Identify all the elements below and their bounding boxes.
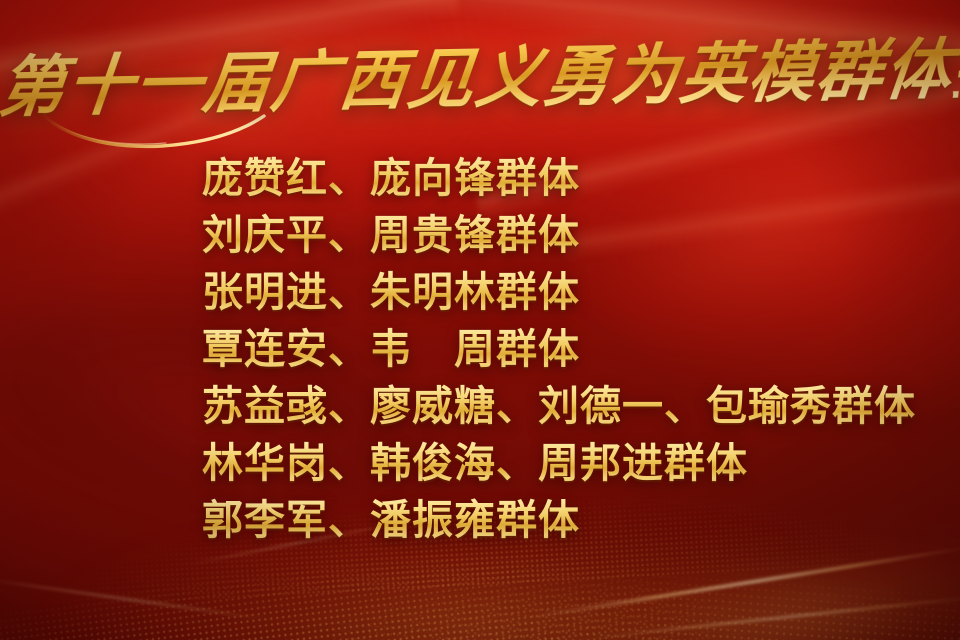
title-zone: 第十一届广西见义勇为英模群体提名奖 bbox=[0, 22, 960, 142]
light-streak-left bbox=[0, 575, 287, 622]
award-poster: 第十一届广西见义勇为英模群体提名奖 庞赞红、庞向锋群体 刘庆平、周贵锋群体 张明… bbox=[0, 0, 960, 640]
list-item: 郭李军、潘振雍群体 bbox=[202, 492, 942, 549]
nominee-list: 庞赞红、庞向锋群体 刘庆平、周贵锋群体 张明进、朱明林群体 覃连安、韦 周群体 … bbox=[202, 150, 942, 549]
list-item: 苏益彧、廖威糖、刘德一、包瑜秀群体 bbox=[202, 378, 942, 435]
list-item: 庞赞红、庞向锋群体 bbox=[202, 150, 942, 207]
page-title: 第十一届广西见义勇为英模群体提名奖 bbox=[0, 13, 960, 143]
light-streak-main bbox=[521, 545, 960, 620]
list-item: 张明进、朱明林群体 bbox=[202, 264, 942, 321]
list-item: 覃连安、韦 周群体 bbox=[202, 321, 942, 378]
light-streak-lower bbox=[577, 594, 960, 640]
list-item: 刘庆平、周贵锋群体 bbox=[202, 207, 942, 264]
list-item: 林华岗、韩俊海、周邦进群体 bbox=[202, 435, 942, 492]
